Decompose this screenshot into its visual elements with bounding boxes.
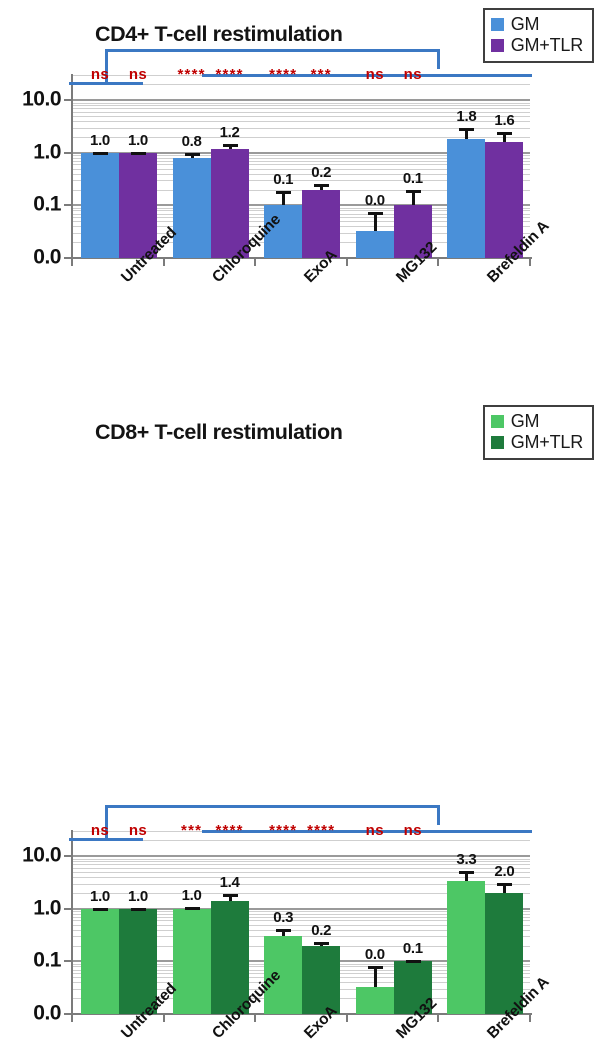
error-bar-cap <box>276 929 291 932</box>
x-axis-tick <box>346 1014 348 1022</box>
bar-value-label: 1.0 <box>90 888 110 905</box>
y-axis-tick <box>64 99 72 101</box>
significance-marker: ns <box>91 66 109 83</box>
error-bar-cap <box>368 966 383 969</box>
error-bar-cap <box>276 191 291 194</box>
y-axis-tick-label: 1.0 <box>33 896 61 920</box>
bar-value-label: 0.3 <box>273 909 293 926</box>
bar-value-label: 1.0 <box>182 887 202 904</box>
comparison-bracket <box>437 49 440 69</box>
bar-value-label: 0.0 <box>365 192 385 209</box>
significance-marker: ns <box>404 66 422 83</box>
legend-label-gm: GM <box>511 14 540 35</box>
legend-label-gm-tlr: GM+TLR <box>511 432 583 453</box>
bar-gm <box>356 987 394 1014</box>
y-axis-tick-label: 10.0 <box>22 844 61 868</box>
y-axis-tick <box>64 152 72 154</box>
legend-swatch-gm-tlr <box>491 39 504 52</box>
error-bar-cap <box>314 184 329 187</box>
x-axis-tick <box>71 1014 73 1022</box>
x-axis-tick <box>437 258 439 266</box>
bar-value-label: 0.1 <box>403 170 423 187</box>
significance-marker: **** <box>269 66 297 83</box>
error-bar <box>374 966 377 987</box>
error-bar-cap <box>185 153 200 156</box>
bar-group: 0.00.1 <box>347 831 439 1014</box>
legend-item-gm: GM <box>491 14 583 35</box>
bar-value-label: 0.1 <box>403 940 423 957</box>
significance-marker: ns <box>404 822 422 839</box>
bar-value-label: 0.0 <box>365 946 385 963</box>
legend-item-gm-tlr: GM+TLR <box>491 432 583 453</box>
bar-gm-tlr <box>302 946 340 1014</box>
error-bar-cap <box>406 960 421 963</box>
bar-gm <box>81 153 119 258</box>
y-axis-tick <box>64 908 72 910</box>
plot-area-cd8: 10.01.00.10.01.01.01.01.40.30.20.00.13.3… <box>72 831 530 1014</box>
legend-swatch-gm-tlr <box>491 436 504 449</box>
plot-area-cd4: 10.01.00.10.01.01.00.81.20.10.20.00.11.8… <box>72 75 530 258</box>
comparison-bracket <box>437 805 440 825</box>
bar-value-label: 1.0 <box>90 132 110 149</box>
bar-gm <box>356 231 394 258</box>
error-bar-cap <box>497 132 512 135</box>
bar-value-label: 1.0 <box>128 888 148 905</box>
significance-marker: ns <box>91 822 109 839</box>
bar-group: 1.01.4 <box>164 831 256 1014</box>
error-bar-cap <box>406 190 421 193</box>
legend-cd8: GM GM+TLR <box>483 405 594 460</box>
bar-group: 1.81.6 <box>438 75 530 258</box>
page-title-cd4: CD4+ T-cell restimulation <box>95 22 342 47</box>
x-axis-tick <box>346 258 348 266</box>
error-bar-cap <box>223 894 238 897</box>
significance-marker: **** <box>216 66 244 83</box>
bar-gm <box>173 158 211 258</box>
y-axis-tick-label: 1.0 <box>33 140 61 164</box>
legend-swatch-gm <box>491 415 504 428</box>
error-bar-cap <box>497 883 512 886</box>
comparison-bracket <box>105 805 438 808</box>
significance-marker: *** <box>311 66 332 83</box>
x-axis-tick <box>254 258 256 266</box>
panel-cd8: CD8+ T-cell restimulation GM GM+TLR 10.0… <box>0 376 600 751</box>
y-axis-tick-label: 0.0 <box>33 246 61 270</box>
legend-swatch-gm <box>491 18 504 31</box>
x-axis-tick <box>71 258 73 266</box>
bar-value-label: 0.2 <box>311 922 331 939</box>
x-axis-tick <box>529 258 531 266</box>
significance-marker: **** <box>269 822 297 839</box>
bar-group: 1.01.0 <box>72 831 164 1014</box>
significance-marker: ns <box>129 822 147 839</box>
bar-gm <box>447 881 485 1014</box>
bar-value-label: 2.0 <box>494 863 514 880</box>
error-bar-cap <box>93 908 108 911</box>
significance-marker: **** <box>178 66 206 83</box>
error-bar-cap <box>314 942 329 945</box>
x-axis-tick <box>163 1014 165 1022</box>
significance-marker: ns <box>129 66 147 83</box>
bar-value-label: 3.3 <box>456 851 476 868</box>
bar-gm-tlr <box>302 190 340 258</box>
legend-cd4: GM GM+TLR <box>483 8 594 63</box>
significance-marker: ns <box>366 66 384 83</box>
bar-value-label: 1.0 <box>128 132 148 149</box>
error-bar-cap <box>131 152 146 155</box>
error-bar-cap <box>93 152 108 155</box>
bar-value-label: 0.1 <box>273 171 293 188</box>
significance-marker: **** <box>216 822 244 839</box>
bar-group: 3.32.0 <box>438 831 530 1014</box>
bar-value-label: 1.2 <box>220 124 240 141</box>
error-bar-cap <box>131 908 146 911</box>
error-bar-cap <box>223 144 238 147</box>
bar-value-label: 1.6 <box>494 112 514 129</box>
bar-gm <box>81 909 119 1014</box>
legend-item-gm-tlr: GM+TLR <box>491 35 583 56</box>
bar-value-label: 0.2 <box>311 164 331 181</box>
y-axis-tick-label: 0.1 <box>33 949 61 973</box>
bar-group: 1.01.0 <box>72 75 164 258</box>
y-axis-tick <box>64 855 72 857</box>
panel-cd4: CD4+ T-cell restimulation GM GM+TLR 10.0… <box>0 0 600 375</box>
page-title-cd8: CD8+ T-cell restimulation <box>95 420 342 445</box>
x-axis-tick <box>163 258 165 266</box>
error-bar-cap <box>185 907 200 910</box>
bar-group: 0.81.2 <box>164 75 256 258</box>
bar-value-label: 0.8 <box>182 133 202 150</box>
x-axis-tick <box>529 1014 531 1022</box>
bar-value-label: 1.8 <box>456 108 476 125</box>
error-bar-cap <box>368 212 383 215</box>
bar-gm <box>447 139 485 258</box>
legend-label-gm: GM <box>511 411 540 432</box>
bar-group: 0.00.1 <box>347 75 439 258</box>
significance-marker: ns <box>366 822 384 839</box>
bar-gm <box>173 909 211 1014</box>
y-axis-tick-label: 10.0 <box>22 88 61 112</box>
significance-marker: **** <box>307 822 335 839</box>
y-axis-tick <box>64 960 72 962</box>
y-axis-tick-label: 0.0 <box>33 1002 61 1026</box>
y-axis-tick <box>64 204 72 206</box>
significance-marker: *** <box>181 822 202 839</box>
legend-label-gm-tlr: GM+TLR <box>511 35 583 56</box>
x-axis-tick <box>437 1014 439 1022</box>
error-bar-cap <box>459 128 474 131</box>
y-axis-tick-label: 0.1 <box>33 193 61 217</box>
x-axis-tick <box>254 1014 256 1022</box>
error-bar-cap <box>459 871 474 874</box>
legend-item-gm: GM <box>491 411 583 432</box>
comparison-bracket <box>105 49 438 52</box>
bar-value-label: 1.4 <box>220 874 240 891</box>
